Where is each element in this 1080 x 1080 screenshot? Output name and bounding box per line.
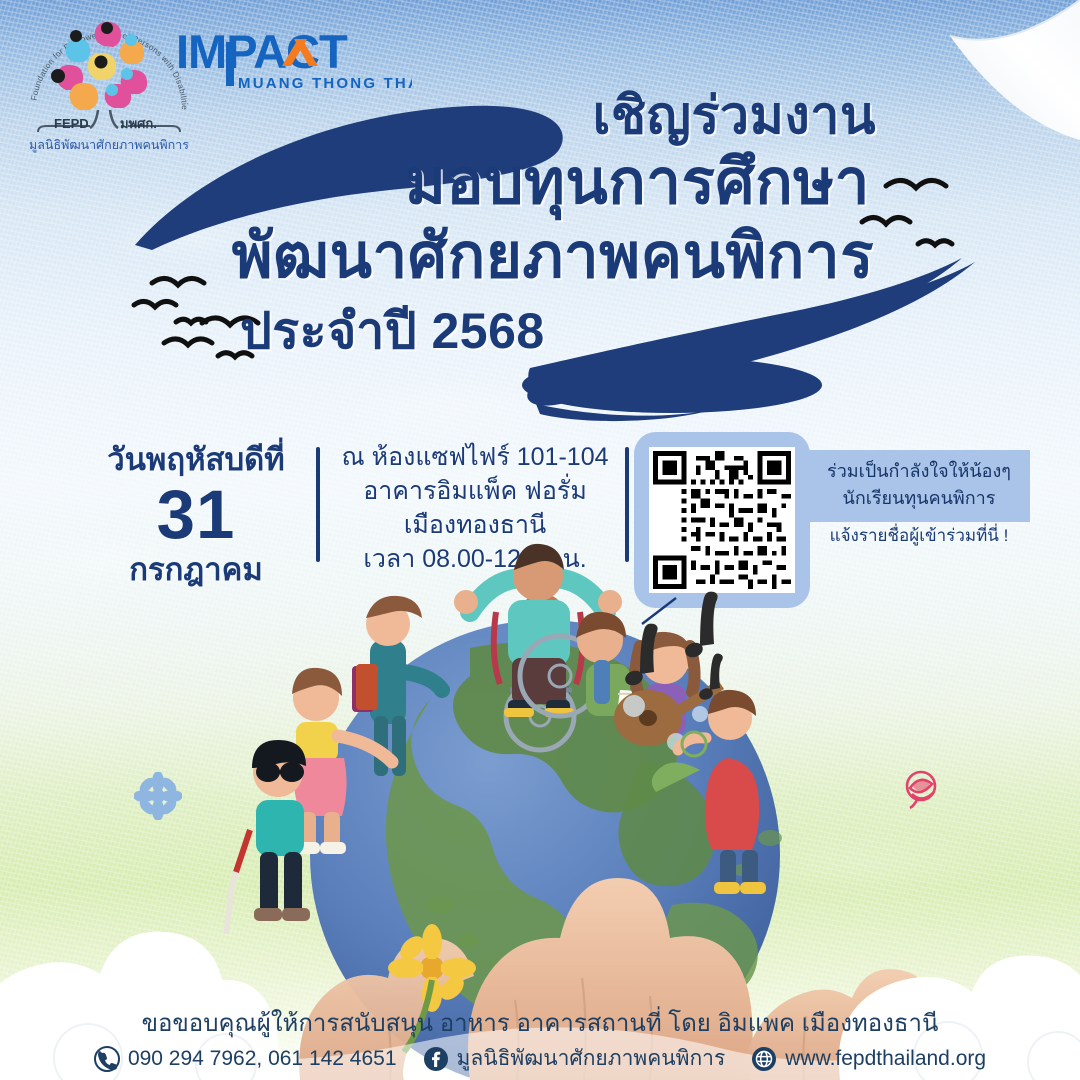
footer-thanks-text: ขอขอบคุณผู้ให้การสนับสนุน อาหาร อาคารสถา…	[0, 1007, 1080, 1041]
website-url: www.fepdthailand.org	[785, 1044, 986, 1074]
contact-facebook[interactable]: มูลนิธิพัฒนาศักยภาพคนพิการ	[423, 1044, 726, 1074]
poster-canvas: Foundation for Empowerment of Persons wi…	[0, 0, 1080, 1080]
footer: ขอขอบคุณผู้ให้การสนับสนุน อาหาร อาคารสถา…	[0, 1007, 1080, 1074]
facebook-icon	[423, 1046, 449, 1072]
facebook-page-name: มูลนิธิพัฒนาศักยภาพคนพิการ	[457, 1044, 726, 1074]
footer-contacts: 090 294 7962, 061 142 4651 มูลนิธิพัฒนาศ…	[0, 1044, 1080, 1074]
globe-icon	[751, 1046, 777, 1072]
contact-phone[interactable]: 090 294 7962, 061 142 4651	[94, 1044, 397, 1074]
phone-icon	[94, 1046, 120, 1072]
contact-website[interactable]: www.fepdthailand.org	[751, 1044, 986, 1074]
phone-numbers: 090 294 7962, 061 142 4651	[128, 1044, 397, 1074]
cloud-shapes	[0, 0, 1080, 1080]
page-curl-corner	[950, 0, 1080, 140]
